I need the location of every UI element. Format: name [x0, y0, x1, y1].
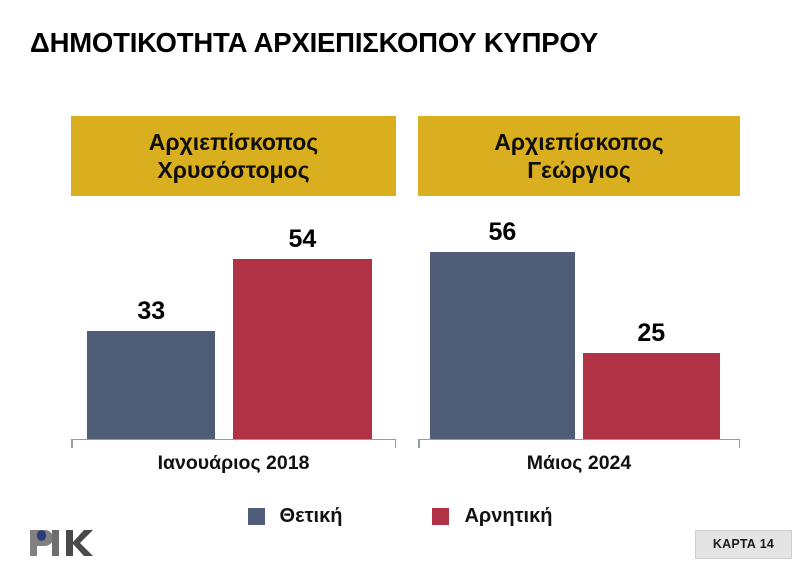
bar-positive-2024[interactable]: 56 — [430, 252, 575, 439]
panel-header-line2: Χρυσόστομος — [157, 156, 309, 184]
x-axis-line-2024 — [418, 439, 740, 441]
status-badge: ΚΑΡΤΑ 14 — [695, 530, 792, 559]
chart-panel-georgios: Αρχιεπίσκοπος Γεώργιος 56 25 Μάιος 2024 — [418, 0, 740, 567]
axis-tick-right-2024 — [739, 440, 741, 448]
panel-header-line1: Αρχιεπίσκοπος — [494, 128, 664, 156]
legend-label-positive: Θετική — [280, 505, 343, 528]
rik-logo — [28, 522, 94, 560]
bar-negative-2024[interactable]: 25 — [583, 353, 720, 439]
bar-value-label-positive-2018: 33 — [137, 297, 165, 326]
axis-tick-left-2024 — [418, 440, 420, 448]
x-axis-line-2018 — [71, 439, 396, 441]
legend-item-negative[interactable]: Αρνητική — [432, 505, 552, 528]
category-label-2024: Μάιος 2024 — [418, 452, 740, 475]
axis-tick-left-2018 — [71, 440, 73, 448]
slide-canvas: ΔΗΜΟΤΙΚΟΤΗΤΑ ΑΡΧΙΕΠΙΣΚΟΠΟΥ ΚΥΠΡΟΥ Αρχιεπ… — [0, 0, 800, 567]
rik-logo-icon — [28, 522, 94, 560]
panel-header-line2: Γεώργιος — [527, 156, 631, 184]
bar-value-label-negative-2024: 25 — [637, 319, 665, 348]
plot-area-georgios: 56 25 — [418, 220, 740, 440]
panel-header-georgios: Αρχιεπίσκοπος Γεώργιος — [418, 116, 740, 196]
panel-header-line1: Αρχιεπίσκοπος — [149, 128, 319, 156]
legend-item-positive[interactable]: Θετική — [248, 505, 343, 528]
category-label-2018: Ιανουάριος 2018 — [71, 452, 396, 475]
bar-value-label-negative-2018: 54 — [288, 225, 316, 254]
panel-header-chrysostomos: Αρχιεπίσκοπος Χρυσόστομος — [71, 116, 396, 196]
legend-swatch-icon-negative — [432, 508, 449, 525]
chart-legend: Θετική Αρνητική — [0, 505, 800, 528]
bar-positive-2018[interactable]: 33 — [87, 331, 215, 439]
bar-negative-2018[interactable]: 54 — [233, 259, 372, 439]
bar-value-label-positive-2024: 56 — [488, 218, 516, 247]
axis-tick-right-2018 — [395, 440, 397, 448]
legend-label-negative: Αρνητική — [464, 505, 552, 528]
chart-panel-chrysostomos: Αρχιεπίσκοπος Χρυσόστομος 33 54 Ιανουάρι… — [71, 0, 396, 567]
plot-area-chrysostomos: 33 54 — [71, 220, 396, 440]
legend-swatch-icon-positive — [248, 508, 265, 525]
